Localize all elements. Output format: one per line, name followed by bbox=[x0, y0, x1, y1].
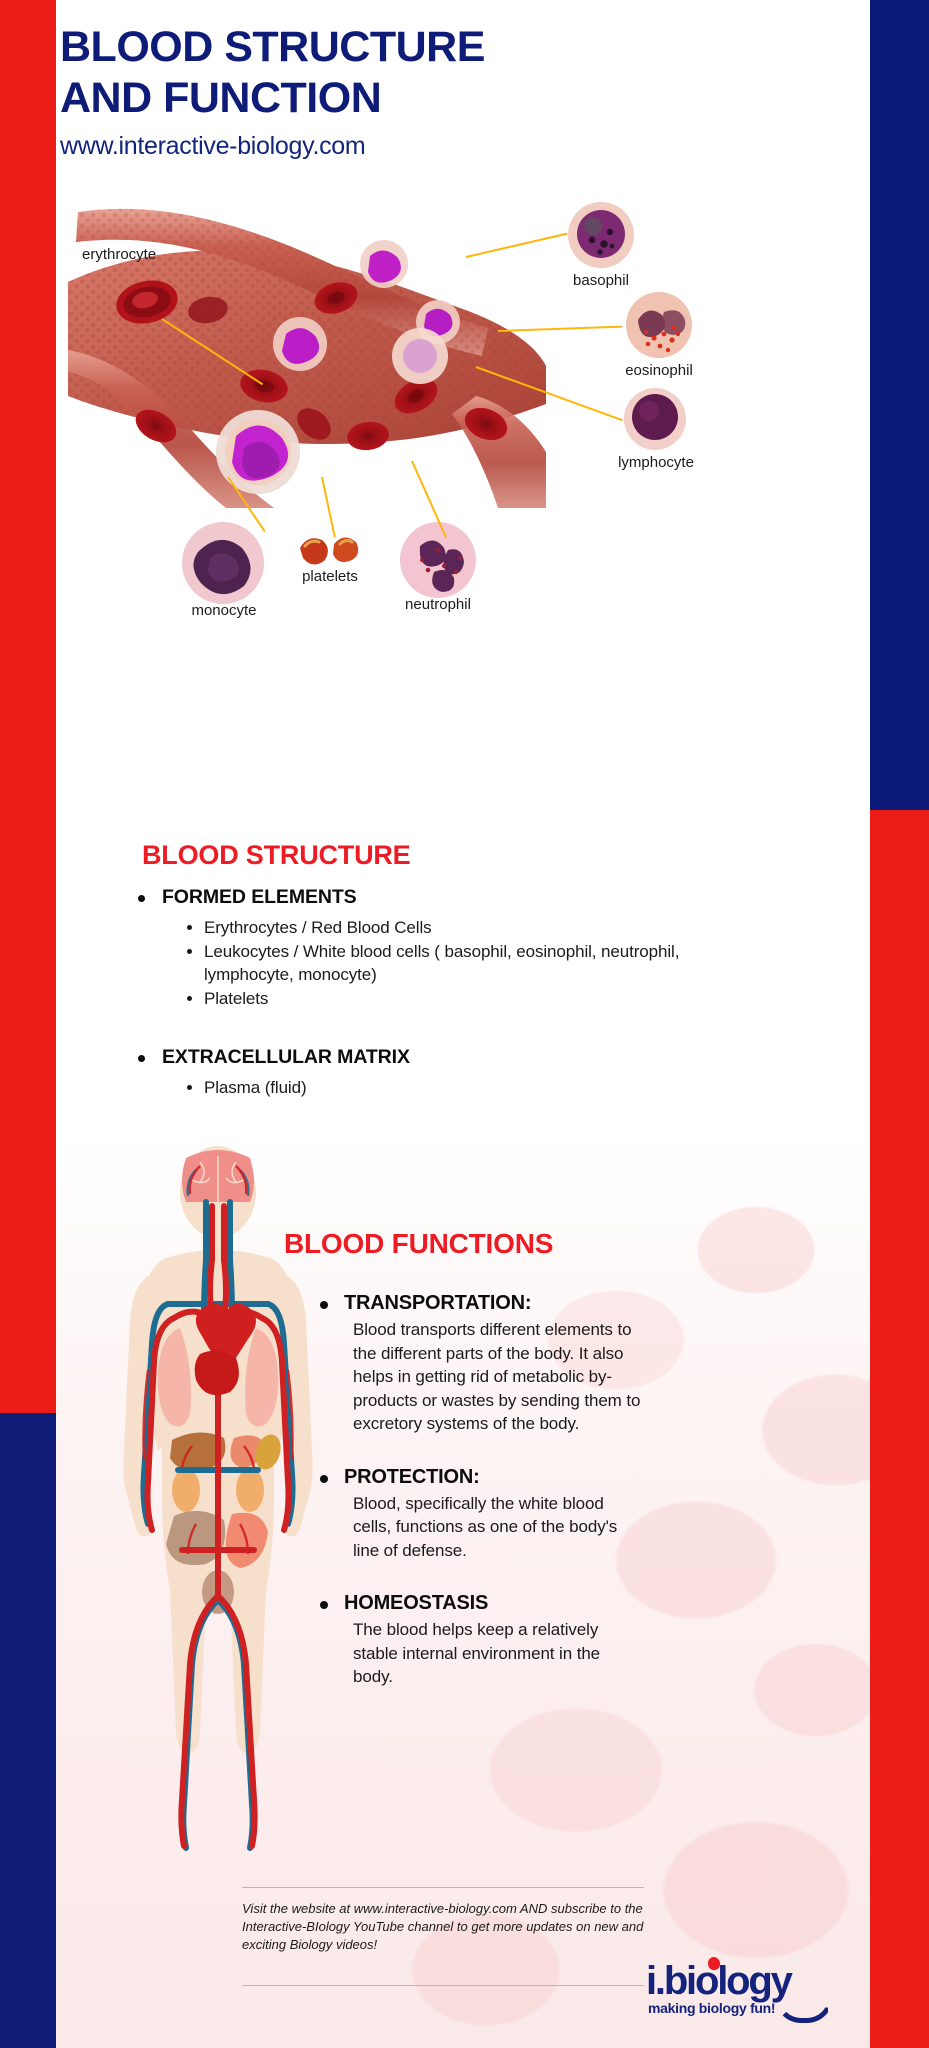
function-item-homeostasis: HOMEOSTASIS The blood helps keep a relat… bbox=[314, 1592, 644, 1689]
label-neutrophil: neutrophil bbox=[386, 596, 490, 613]
blood-vessel-illustration bbox=[68, 190, 548, 510]
structure-list-matrix: EXTRACELLULAR MATRIX Plasma (fluid) bbox=[130, 1046, 770, 1103]
eosinophil-cell-icon bbox=[624, 290, 694, 360]
basophil-cell-icon bbox=[566, 200, 636, 270]
neutrophil-cell-icon bbox=[398, 520, 478, 600]
left-red-bar bbox=[0, 0, 56, 1413]
logo-smile-icon bbox=[775, 1997, 833, 2023]
label-platelets: platelets bbox=[282, 568, 378, 585]
function-title: TRANSPORTATION: bbox=[344, 1292, 644, 1315]
footer-note: Visit the website at www.interactive-bio… bbox=[242, 1900, 662, 1954]
content-canvas: BLOOD STRUCTURE AND FUNCTION www.interac… bbox=[56, 0, 870, 2048]
function-title: PROTECTION: bbox=[344, 1466, 644, 1489]
blood-smear-diagram: erythrocyte basophil bbox=[68, 190, 868, 630]
structure-list: FORMED ELEMENTS Erythrocytes / Red Blood… bbox=[130, 886, 770, 1014]
platelets-icon bbox=[296, 532, 364, 570]
logo-wordmark: i.biology bbox=[646, 1960, 866, 2002]
website-url: www.interactive-biology.com bbox=[56, 132, 756, 161]
logo-tagline: making biology fun! bbox=[648, 2000, 775, 2016]
label-basophil: basophil bbox=[558, 272, 644, 289]
function-item-protection: PROTECTION: Blood, specifically the whit… bbox=[314, 1466, 644, 1563]
right-navy-bar bbox=[870, 0, 929, 810]
function-body: Blood, specifically the white blood cell… bbox=[344, 1492, 644, 1563]
blood-structure-heading: BLOOD STRUCTURE bbox=[142, 840, 411, 871]
group-label: FORMED ELEMENTS bbox=[162, 886, 357, 908]
function-body: Blood transports different elements to t… bbox=[344, 1318, 644, 1436]
group-label: EXTRACELLULAR MATRIX bbox=[162, 1046, 410, 1068]
right-red-bar bbox=[870, 810, 929, 2048]
structure-group-extracellular-matrix: EXTRACELLULAR MATRIX Plasma (fluid) bbox=[130, 1046, 770, 1099]
label-lymphocyte: lymphocyte bbox=[600, 454, 712, 471]
erythrocyte-cell-icon bbox=[114, 278, 180, 326]
list-item: Plasma (fluid) bbox=[184, 1076, 770, 1099]
extracellular-matrix-sublist: Plasma (fluid) bbox=[184, 1076, 770, 1099]
header: BLOOD STRUCTURE AND FUNCTION www.interac… bbox=[56, 22, 756, 161]
function-body: The blood helps keep a relatively stable… bbox=[344, 1618, 644, 1689]
page-title: BLOOD STRUCTURE AND FUNCTION bbox=[56, 22, 756, 124]
function-item-transportation: TRANSPORTATION: Blood transports differe… bbox=[314, 1292, 644, 1436]
left-navy-bar bbox=[0, 1413, 56, 2048]
infographic-page: BLOOD STRUCTURE AND FUNCTION www.interac… bbox=[0, 0, 929, 2048]
ibiology-logo[interactable]: i.biology making biology fun! bbox=[646, 1960, 866, 2035]
function-title: HOMEOSTASIS bbox=[344, 1592, 644, 1615]
structure-group-formed-elements: FORMED ELEMENTS Erythrocytes / Red Blood… bbox=[130, 886, 770, 1010]
blood-functions-heading: BLOOD FUNCTIONS bbox=[284, 1228, 553, 1260]
functions-list: TRANSPORTATION: Blood transports differe… bbox=[314, 1292, 644, 1719]
list-item: Platelets bbox=[184, 987, 770, 1010]
formed-elements-sublist: Erythrocytes / Red Blood Cells Leukocyte… bbox=[184, 916, 770, 1010]
monocyte-cell-icon bbox=[180, 520, 266, 606]
lymphocyte-cell-icon bbox=[622, 386, 688, 452]
list-item: Erythrocytes / Red Blood Cells bbox=[184, 916, 770, 939]
label-erythrocyte: erythrocyte bbox=[82, 246, 156, 263]
label-eosinophil: eosinophil bbox=[608, 362, 710, 379]
footer-divider-bottom bbox=[242, 1985, 644, 1986]
list-item: Leukocytes / White blood cells ( basophi… bbox=[184, 940, 770, 986]
footer-divider-top bbox=[242, 1887, 644, 1888]
label-monocyte: monocyte bbox=[168, 602, 280, 619]
